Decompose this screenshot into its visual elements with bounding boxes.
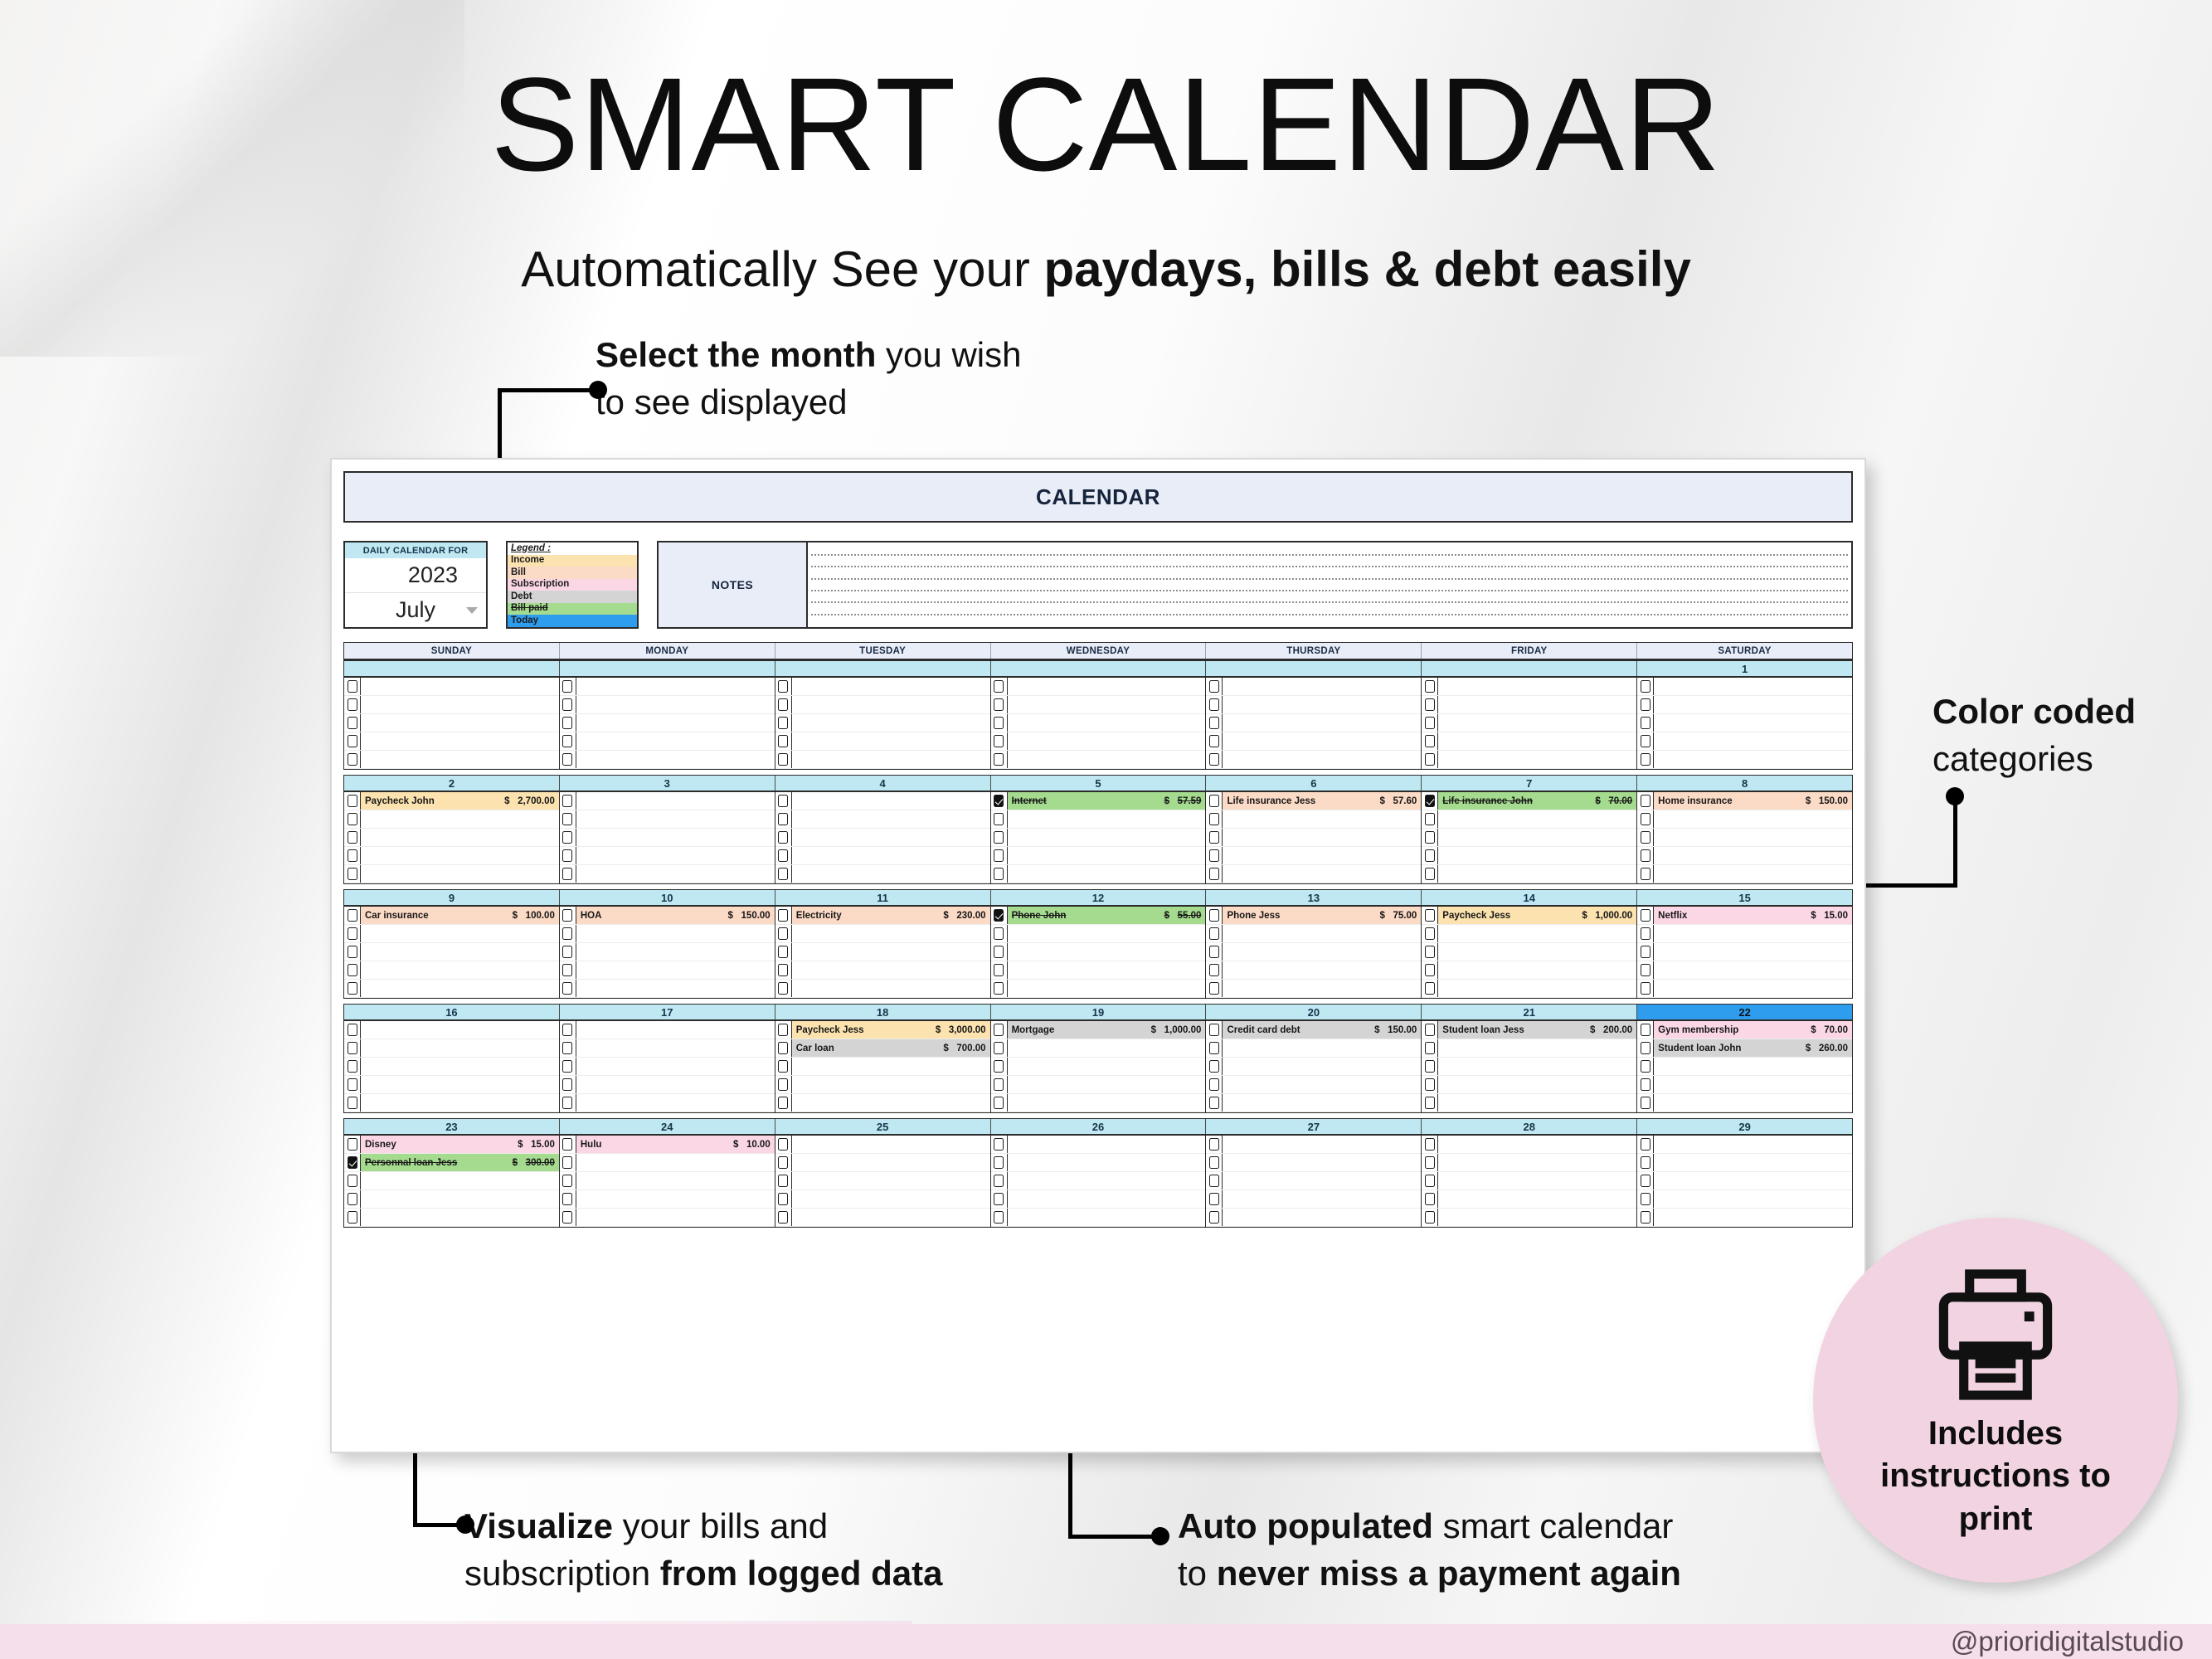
calendar-entry[interactable]: Disney$15.00 (361, 1136, 559, 1153)
checkbox-icon[interactable] (778, 753, 788, 766)
entry-checkbox-cell[interactable] (775, 751, 792, 768)
calendar-entry-empty[interactable] (1438, 847, 1636, 864)
calendar-entry-empty[interactable] (1654, 678, 1852, 695)
day-cell[interactable] (1422, 1136, 1637, 1227)
checkbox-icon[interactable] (994, 868, 1004, 880)
checkbox-icon[interactable] (348, 1175, 357, 1187)
calendar-entry-empty[interactable] (1654, 1172, 1852, 1190)
day-cell[interactable]: Netflix$15.00 (1637, 907, 1852, 998)
checkbox-icon[interactable] (1641, 1097, 1650, 1109)
checkbox-icon[interactable] (1641, 964, 1650, 976)
checkbox-icon[interactable] (562, 1138, 572, 1151)
calendar-entry-empty[interactable] (576, 751, 775, 768)
entry-checkbox-cell[interactable] (560, 1190, 576, 1208)
calendar-entry-empty[interactable] (1223, 980, 1421, 997)
calendar-entry-empty[interactable] (361, 810, 559, 828)
calendar-entry-empty[interactable] (1223, 732, 1421, 750)
calendar-entry-empty[interactable] (1008, 1076, 1206, 1093)
calendar-entry-empty[interactable] (1654, 1058, 1852, 1075)
calendar-entry-empty[interactable] (576, 961, 775, 979)
calendar-entry-empty[interactable] (792, 751, 990, 768)
calendar-entry[interactable]: Student loan John$260.00 (1654, 1039, 1852, 1057)
entry-checkbox-cell[interactable] (1637, 714, 1654, 732)
calendar-entry-empty[interactable] (1223, 943, 1421, 961)
checkbox-icon[interactable] (1425, 1211, 1435, 1224)
notes-line[interactable] (811, 601, 1848, 603)
day-cell[interactable] (560, 1021, 775, 1112)
checkbox-icon[interactable] (1425, 1156, 1435, 1169)
checkbox-checked-icon[interactable] (994, 795, 1004, 807)
entry-checkbox-cell[interactable] (344, 810, 361, 828)
checkbox-icon[interactable] (1209, 1078, 1219, 1091)
calendar-entry-empty[interactable] (1008, 925, 1206, 942)
checkbox-icon[interactable] (1209, 753, 1219, 766)
calendar-entry-empty[interactable] (1008, 1039, 1206, 1057)
checkbox-icon[interactable] (994, 753, 1004, 766)
calendar-entry-empty[interactable] (1008, 714, 1206, 732)
checkbox-icon[interactable] (1641, 1042, 1650, 1054)
day-cell[interactable]: Home insurance$150.00 (1637, 792, 1852, 883)
entry-checkbox-cell[interactable] (775, 829, 792, 846)
day-cell[interactable]: Paycheck Jess$3,000.00Car loan$700.00 (775, 1021, 991, 1112)
calendar-entry-empty[interactable] (792, 1136, 990, 1153)
entry-checkbox-cell[interactable] (1637, 1094, 1654, 1112)
calendar-entry[interactable]: Gym membership$70.00 (1654, 1021, 1852, 1039)
checkbox-icon[interactable] (778, 680, 788, 693)
calendar-entry-empty[interactable] (1438, 732, 1636, 750)
calendar-entry-empty[interactable] (576, 1094, 775, 1112)
checkbox-icon[interactable] (1209, 795, 1219, 807)
calendar-entry-empty[interactable] (1438, 1190, 1636, 1208)
calendar-entry-empty[interactable] (361, 925, 559, 942)
checkbox-icon[interactable] (778, 1193, 788, 1205)
checkbox-icon[interactable] (348, 849, 357, 862)
entry-checkbox-cell[interactable] (1422, 847, 1438, 864)
checkbox-icon[interactable] (1209, 1156, 1219, 1169)
day-cell[interactable]: Hulu$10.00 (560, 1136, 775, 1227)
entry-checkbox-cell[interactable] (775, 847, 792, 864)
checkbox-icon[interactable] (348, 909, 357, 922)
entry-checkbox-cell[interactable] (1422, 829, 1438, 846)
entry-checkbox-cell[interactable] (1206, 1136, 1223, 1153)
day-cell[interactable] (775, 1136, 991, 1227)
checkbox-icon[interactable] (778, 813, 788, 825)
checkbox-icon[interactable] (562, 909, 572, 922)
entry-checkbox-cell[interactable] (344, 678, 361, 695)
calendar-entry-empty[interactable] (1438, 751, 1636, 768)
entry-checkbox-cell[interactable] (991, 1154, 1008, 1171)
checkbox-icon[interactable] (348, 868, 357, 880)
calendar-entry-empty[interactable] (1438, 829, 1636, 846)
calendar-entry[interactable]: HOA$150.00 (576, 907, 775, 924)
entry-checkbox-cell[interactable] (344, 1094, 361, 1112)
calendar-entry-empty[interactable] (1438, 1136, 1636, 1153)
calendar-entry-empty[interactable] (1438, 865, 1636, 883)
checkbox-icon[interactable] (994, 849, 1004, 862)
entry-checkbox-cell[interactable] (1637, 732, 1654, 750)
entry-checkbox-cell[interactable] (1637, 1076, 1654, 1093)
calendar-entry-empty[interactable] (361, 865, 559, 883)
calendar-entry-empty[interactable] (576, 925, 775, 942)
checkbox-icon[interactable] (1209, 849, 1219, 862)
entry-checkbox-cell[interactable] (1422, 1076, 1438, 1093)
entry-checkbox-cell[interactable] (1422, 1209, 1438, 1226)
entry-checkbox-cell[interactable] (560, 1136, 576, 1153)
entry-checkbox-cell[interactable] (991, 1209, 1008, 1226)
calendar-entry-empty[interactable] (1223, 1094, 1421, 1112)
calendar-entry-empty[interactable] (792, 847, 990, 864)
checkbox-icon[interactable] (778, 1078, 788, 1091)
checkbox-icon[interactable] (994, 927, 1004, 940)
checkbox-icon[interactable] (1209, 946, 1219, 958)
entry-checkbox-cell[interactable] (560, 943, 576, 961)
calendar-entry-empty[interactable] (1654, 829, 1852, 846)
calendar-entry-empty[interactable] (361, 732, 559, 750)
checkbox-icon[interactable] (1209, 1193, 1219, 1205)
entry-checkbox-cell[interactable] (1422, 1058, 1438, 1075)
entry-checkbox-cell[interactable] (991, 1021, 1008, 1039)
checkbox-icon[interactable] (1425, 909, 1435, 922)
checkbox-icon[interactable] (1209, 909, 1219, 922)
checkbox-icon[interactable] (1209, 964, 1219, 976)
calendar-entry[interactable]: Paycheck Jess$1,000.00 (1438, 907, 1636, 924)
entry-checkbox-cell[interactable] (1422, 792, 1438, 810)
checkbox-icon[interactable] (562, 849, 572, 862)
calendar-entry-empty[interactable] (1008, 732, 1206, 750)
checkbox-icon[interactable] (1641, 946, 1650, 958)
calendar-entry-empty[interactable] (1223, 714, 1421, 732)
day-cell[interactable]: Disney$15.00Personnal loan Jess$300.00 (344, 1136, 560, 1227)
calendar-entry-empty[interactable] (1654, 1094, 1852, 1112)
checkbox-icon[interactable] (348, 698, 357, 711)
calendar-entry-empty[interactable] (792, 925, 990, 942)
checkbox-checked-icon[interactable] (1425, 795, 1435, 807)
checkbox-icon[interactable] (1209, 735, 1219, 747)
calendar-entry-empty[interactable] (1008, 865, 1206, 883)
calendar-entry-empty[interactable] (576, 1039, 775, 1057)
entry-checkbox-cell[interactable] (560, 751, 576, 768)
entry-checkbox-cell[interactable] (991, 943, 1008, 961)
calendar-entry-empty[interactable] (1223, 925, 1421, 942)
calendar-entry-empty[interactable] (1223, 678, 1421, 695)
checkbox-icon[interactable] (1209, 813, 1219, 825)
checkbox-icon[interactable] (1209, 1097, 1219, 1109)
calendar-entry-empty[interactable] (1223, 1190, 1421, 1208)
calendar-entry[interactable]: Phone John$55.00 (1008, 907, 1206, 924)
checkbox-icon[interactable] (1641, 1060, 1650, 1073)
checkbox-icon[interactable] (562, 1175, 572, 1187)
entry-checkbox-cell[interactable] (1422, 980, 1438, 997)
checkbox-icon[interactable] (778, 927, 788, 940)
entry-checkbox-cell[interactable] (344, 1154, 361, 1171)
notes-lines[interactable] (808, 542, 1851, 627)
checkbox-icon[interactable] (1641, 717, 1650, 729)
calendar-entry-empty[interactable] (576, 1190, 775, 1208)
checkbox-icon[interactable] (1209, 1175, 1219, 1187)
calendar-entry-empty[interactable] (361, 1039, 559, 1057)
checkbox-icon[interactable] (562, 795, 572, 807)
entry-checkbox-cell[interactable] (991, 961, 1008, 979)
day-cell[interactable]: Life insurance Jess$57.60 (1206, 792, 1422, 883)
day-cell[interactable]: Student loan Jess$200.00 (1422, 1021, 1637, 1112)
entry-checkbox-cell[interactable] (560, 865, 576, 883)
entry-checkbox-cell[interactable] (560, 1154, 576, 1171)
calendar-entry-empty[interactable] (576, 847, 775, 864)
entry-checkbox-cell[interactable] (1637, 696, 1654, 713)
checkbox-icon[interactable] (562, 813, 572, 825)
day-cell[interactable]: Mortgage$1,000.00 (991, 1021, 1207, 1112)
entry-checkbox-cell[interactable] (775, 1136, 792, 1153)
checkbox-icon[interactable] (348, 1097, 357, 1109)
checkbox-icon[interactable] (348, 1193, 357, 1205)
calendar-entry-empty[interactable] (792, 810, 990, 828)
calendar-entry-empty[interactable] (1223, 810, 1421, 828)
checkbox-icon[interactable] (1641, 795, 1650, 807)
entry-checkbox-cell[interactable] (1637, 1039, 1654, 1057)
entry-checkbox-cell[interactable] (1637, 925, 1654, 942)
checkbox-icon[interactable] (1641, 680, 1650, 693)
calendar-entry-empty[interactable] (1438, 943, 1636, 961)
entry-checkbox-cell[interactable] (1637, 980, 1654, 997)
entry-checkbox-cell[interactable] (775, 1209, 792, 1226)
entry-checkbox-cell[interactable] (775, 678, 792, 695)
checkbox-icon[interactable] (994, 698, 1004, 711)
checkbox-icon[interactable] (778, 1060, 788, 1073)
calendar-entry-empty[interactable] (1654, 847, 1852, 864)
calendar-entry-empty[interactable] (792, 1172, 990, 1190)
entry-checkbox-cell[interactable] (991, 792, 1008, 810)
calendar-entry-empty[interactable] (1438, 1154, 1636, 1171)
checkbox-icon[interactable] (1425, 1097, 1435, 1109)
checkbox-icon[interactable] (348, 927, 357, 940)
entry-checkbox-cell[interactable] (1206, 961, 1223, 979)
checkbox-icon[interactable] (1425, 735, 1435, 747)
checkbox-icon[interactable] (1425, 1042, 1435, 1054)
entry-checkbox-cell[interactable] (1637, 865, 1654, 883)
checkbox-icon[interactable] (562, 698, 572, 711)
entry-checkbox-cell[interactable] (1206, 1154, 1223, 1171)
calendar-entry-empty[interactable] (1654, 1190, 1852, 1208)
checkbox-icon[interactable] (778, 831, 788, 844)
checkbox-icon[interactable] (562, 1024, 572, 1036)
entry-checkbox-cell[interactable] (344, 1136, 361, 1153)
calendar-entry-empty[interactable] (576, 1154, 775, 1171)
calendar-entry[interactable]: Car insurance$100.00 (361, 907, 559, 924)
calendar-entry-empty[interactable] (792, 1209, 990, 1226)
checkbox-icon[interactable] (1641, 927, 1650, 940)
entry-checkbox-cell[interactable] (991, 714, 1008, 732)
day-cell[interactable]: Electricity$230.00 (775, 907, 991, 998)
checkbox-icon[interactable] (994, 1193, 1004, 1205)
checkbox-icon[interactable] (994, 831, 1004, 844)
checkbox-icon[interactable] (348, 795, 357, 807)
day-cell[interactable]: Paycheck John$2,700.00 (344, 792, 560, 883)
checkbox-icon[interactable] (348, 735, 357, 747)
checkbox-icon[interactable] (348, 831, 357, 844)
entry-checkbox-cell[interactable] (560, 792, 576, 810)
checkbox-icon[interactable] (1641, 982, 1650, 995)
calendar-entry-empty[interactable] (792, 1154, 990, 1171)
checkbox-icon[interactable] (348, 1138, 357, 1151)
calendar-entry-empty[interactable] (1223, 829, 1421, 846)
checkbox-icon[interactable] (348, 1042, 357, 1054)
calendar-entry[interactable]: Home insurance$150.00 (1654, 792, 1852, 810)
calendar-entry-empty[interactable] (792, 696, 990, 713)
calendar-entry-empty[interactable] (361, 1058, 559, 1075)
calendar-entry-empty[interactable] (1008, 1136, 1206, 1153)
calendar-entry-empty[interactable] (1654, 1209, 1852, 1226)
calendar-entry-empty[interactable] (1654, 925, 1852, 942)
entry-checkbox-cell[interactable] (560, 714, 576, 732)
notes-line[interactable] (811, 614, 1848, 615)
calendar-entry-empty[interactable] (576, 1076, 775, 1093)
checkbox-icon[interactable] (1425, 1175, 1435, 1187)
calendar-entry-empty[interactable] (1008, 1058, 1206, 1075)
calendar-entry-empty[interactable] (576, 943, 775, 961)
checkbox-icon[interactable] (994, 1060, 1004, 1073)
calendar-entry-empty[interactable] (1223, 696, 1421, 713)
entry-checkbox-cell[interactable] (1637, 1154, 1654, 1171)
calendar-entry-empty[interactable] (576, 810, 775, 828)
calendar-entry-empty[interactable] (361, 696, 559, 713)
checkbox-icon[interactable] (994, 1175, 1004, 1187)
checkbox-icon[interactable] (1641, 1193, 1650, 1205)
calendar-entry[interactable]: Paycheck Jess$3,000.00 (792, 1021, 990, 1039)
checkbox-icon[interactable] (562, 717, 572, 729)
calendar-entry-empty[interactable] (1438, 714, 1636, 732)
checkbox-icon[interactable] (1209, 1024, 1219, 1036)
notes-panel[interactable]: NOTES (657, 541, 1853, 629)
entry-checkbox-cell[interactable] (1422, 907, 1438, 924)
calendar-entry[interactable]: Personnal loan Jess$300.00 (361, 1154, 559, 1171)
calendar-entry[interactable]: Phone Jess$75.00 (1223, 907, 1421, 924)
entry-checkbox-cell[interactable] (1637, 1209, 1654, 1226)
entry-checkbox-cell[interactable] (344, 961, 361, 979)
calendar-entry-empty[interactable] (1654, 1136, 1852, 1153)
entry-checkbox-cell[interactable] (1206, 1039, 1223, 1057)
calendar-entry-empty[interactable] (792, 1076, 990, 1093)
calendar-entry-empty[interactable] (1223, 847, 1421, 864)
calendar-entry-empty[interactable] (1654, 751, 1852, 768)
day-cell[interactable] (1206, 1136, 1422, 1227)
entry-checkbox-cell[interactable] (1637, 1021, 1654, 1039)
checkbox-icon[interactable] (348, 1078, 357, 1091)
entry-checkbox-cell[interactable] (344, 751, 361, 768)
day-cell[interactable] (1637, 1136, 1852, 1227)
checkbox-icon[interactable] (778, 717, 788, 729)
entry-checkbox-cell[interactable] (1637, 678, 1654, 695)
calendar-entry-empty[interactable] (576, 1021, 775, 1039)
entry-checkbox-cell[interactable] (1422, 1094, 1438, 1112)
calendar-entry-empty[interactable] (1438, 810, 1636, 828)
entry-checkbox-cell[interactable] (1637, 792, 1654, 810)
entry-checkbox-cell[interactable] (775, 714, 792, 732)
entry-checkbox-cell[interactable] (775, 1154, 792, 1171)
entry-checkbox-cell[interactable] (344, 980, 361, 997)
entry-checkbox-cell[interactable] (1206, 847, 1223, 864)
checkbox-icon[interactable] (778, 1097, 788, 1109)
checkbox-icon[interactable] (994, 1211, 1004, 1224)
checkbox-icon[interactable] (1641, 1078, 1650, 1091)
calendar-entry-empty[interactable] (792, 714, 990, 732)
entry-checkbox-cell[interactable] (344, 1058, 361, 1075)
checkbox-icon[interactable] (1425, 753, 1435, 766)
checkbox-icon[interactable] (994, 1042, 1004, 1054)
calendar-entry-empty[interactable] (1008, 980, 1206, 997)
entry-checkbox-cell[interactable] (1206, 1021, 1223, 1039)
calendar-entry-empty[interactable] (1008, 678, 1206, 695)
entry-checkbox-cell[interactable] (991, 925, 1008, 942)
entry-checkbox-cell[interactable] (344, 792, 361, 810)
entry-checkbox-cell[interactable] (560, 732, 576, 750)
entry-checkbox-cell[interactable] (1206, 925, 1223, 942)
checkbox-icon[interactable] (348, 964, 357, 976)
checkbox-icon[interactable] (778, 1042, 788, 1054)
entry-checkbox-cell[interactable] (1206, 1172, 1223, 1190)
checkbox-icon[interactable] (1209, 868, 1219, 880)
entry-checkbox-cell[interactable] (1206, 1076, 1223, 1093)
calendar-entry-empty[interactable] (1438, 1209, 1636, 1226)
checkbox-icon[interactable] (994, 982, 1004, 995)
entry-checkbox-cell[interactable] (344, 925, 361, 942)
checkbox-icon[interactable] (1425, 946, 1435, 958)
entry-checkbox-cell[interactable] (1637, 1136, 1654, 1153)
calendar-entry-empty[interactable] (361, 1021, 559, 1039)
checkbox-icon[interactable] (348, 1060, 357, 1073)
day-cell[interactable]: Phone John$55.00 (991, 907, 1207, 998)
calendar-entry-empty[interactable] (1654, 1076, 1852, 1093)
checkbox-icon[interactable] (348, 1024, 357, 1036)
entry-checkbox-cell[interactable] (1206, 1209, 1223, 1226)
calendar-entry-empty[interactable] (1654, 696, 1852, 713)
checkbox-icon[interactable] (348, 680, 357, 693)
calendar-entry-empty[interactable] (792, 1190, 990, 1208)
entry-checkbox-cell[interactable] (991, 980, 1008, 997)
checkbox-icon[interactable] (778, 1211, 788, 1224)
entry-checkbox-cell[interactable] (1206, 696, 1223, 713)
notes-line[interactable] (811, 590, 1848, 591)
entry-checkbox-cell[interactable] (560, 678, 576, 695)
calendar-entry-empty[interactable] (1438, 1076, 1636, 1093)
entry-checkbox-cell[interactable] (560, 1039, 576, 1057)
entry-checkbox-cell[interactable] (991, 847, 1008, 864)
calendar-entry-empty[interactable] (1654, 810, 1852, 828)
checkbox-icon[interactable] (562, 1211, 572, 1224)
checkbox-icon[interactable] (348, 717, 357, 729)
entry-checkbox-cell[interactable] (560, 925, 576, 942)
checkbox-icon[interactable] (994, 1024, 1004, 1036)
day-cell[interactable]: Gym membership$70.00Student loan John$26… (1637, 1021, 1852, 1112)
checkbox-icon[interactable] (1641, 1175, 1650, 1187)
calendar-entry-empty[interactable] (576, 980, 775, 997)
entry-checkbox-cell[interactable] (344, 1209, 361, 1226)
checkbox-icon[interactable] (1425, 1138, 1435, 1151)
calendar-entry[interactable]: Paycheck John$2,700.00 (361, 792, 559, 810)
checkbox-icon[interactable] (562, 1156, 572, 1169)
entry-checkbox-cell[interactable] (1422, 678, 1438, 695)
checkbox-icon[interactable] (1425, 680, 1435, 693)
entry-checkbox-cell[interactable] (775, 1172, 792, 1190)
calendar-entry-empty[interactable] (1008, 847, 1206, 864)
checkbox-icon[interactable] (1425, 1193, 1435, 1205)
calendar-entry-empty[interactable] (1223, 1039, 1421, 1057)
entry-checkbox-cell[interactable] (1422, 925, 1438, 942)
checkbox-icon[interactable] (562, 1193, 572, 1205)
calendar-entry-empty[interactable] (576, 678, 775, 695)
notes-line[interactable] (811, 566, 1848, 567)
calendar-entry-empty[interactable] (792, 865, 990, 883)
calendar-entry-empty[interactable] (1008, 961, 1206, 979)
